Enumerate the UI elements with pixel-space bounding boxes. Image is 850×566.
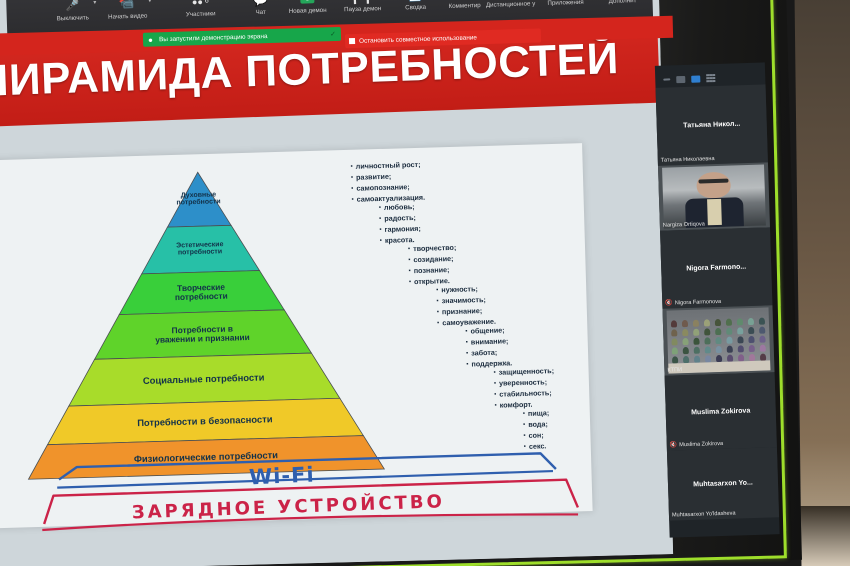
chevron-down-icon[interactable]: ▾ — [93, 0, 96, 6]
participant-tile[interactable]: КТПИ — [662, 305, 774, 375]
toolbar-label: Чат — [235, 8, 287, 17]
toolbar-label: Участники — [175, 10, 227, 19]
photo-of-screen: ПИРАМИДА ПОТРЕБНОСТЕЙ Духовныепотребност… — [0, 0, 850, 566]
sharing-icon: ● — [148, 35, 153, 44]
toolbar-participants-button[interactable]: ●●6Участники — [174, 0, 227, 19]
bullet-item: секс. — [524, 441, 551, 453]
participant-tile[interactable]: Muslima Zokirova🔇Muslima Zokirova — [665, 372, 777, 450]
minimize-icon[interactable] — [663, 78, 670, 80]
participant-video — [667, 307, 771, 373]
participant-name-label: 🔇Nigora Farmonova — [665, 298, 721, 307]
toolbar-pause-share-button[interactable]: ❙❙Пауза демон — [336, 0, 389, 14]
toolbar-label: Выключить — [47, 14, 99, 23]
bullet-item: созидание; — [408, 254, 457, 266]
participant-display-name: Muslima Zokirova — [666, 406, 776, 416]
toolbar-label: Начать видео — [102, 12, 154, 21]
toolbar-remote-button[interactable]: ╱Дистанционное у — [484, 0, 537, 9]
toolbar-label: Дистанционное у — [484, 0, 536, 9]
participants-icon: ●●6 — [174, 0, 226, 10]
participant-display-name: Татьяна Никол... — [657, 120, 767, 130]
microphone-icon: 🎤 — [46, 0, 98, 14]
chat-icon: 💬 — [234, 0, 286, 8]
bullet-group: пища;вода;сон;секс. — [523, 408, 551, 452]
participant-tile[interactable]: Nargiza Ortiqova — [658, 162, 770, 230]
panel-view-controls[interactable] — [663, 74, 715, 84]
bullet-item: пища; — [523, 408, 550, 420]
bullet-group: творчество;созидание;познание;открытие. — [408, 243, 458, 288]
toolbar-label: Приложения — [539, 0, 591, 7]
summary-icon: 📄 — [389, 0, 441, 3]
bullet-group: защищенность;уверенность;стабильность;ко… — [493, 366, 555, 411]
participant-name-label: 🔇Muslima Zokirova — [670, 440, 724, 449]
participant-name-label: КТПИ — [667, 367, 682, 373]
toolbar-annotate-button[interactable]: ✐Комментир — [438, 0, 491, 10]
participant-tile[interactable]: Татьяна Никол...Татьяна Николаевна — [656, 84, 768, 165]
stop-share-label: Остановить совместное использование — [359, 34, 477, 44]
participant-tile[interactable]: Muhtasarxon Yo...Muhtasarxon Yo'ldasheva — [667, 447, 779, 520]
mic-muted-icon: 🔇 — [670, 441, 678, 448]
bullet-group: личностный рост;развитие;самопознание;са… — [350, 160, 425, 206]
bullet-item: вода; — [523, 419, 550, 431]
shared-screen: ПИРАМИДА ПОТРЕБНОСТЕЙ Духовныепотребност… — [0, 0, 673, 566]
toolbar-label: Сводка — [390, 3, 442, 12]
split-view-icon[interactable] — [691, 75, 700, 82]
bullet-item: гармония; — [379, 224, 421, 236]
participant-tile[interactable]: Nigora Farmono...🔇Nigora Farmonova — [660, 227, 772, 308]
annotation-wifi: Wi-Fi — [249, 463, 316, 490]
speaker-view-icon[interactable] — [676, 75, 685, 82]
bullet-item: сон; — [523, 430, 550, 442]
toolbar-new-share-button[interactable]: ⬆Новая демон — [281, 0, 334, 15]
participant-video — [662, 164, 766, 228]
chevron-down-icon[interactable]: ▾ — [148, 0, 151, 4]
video-off-icon: 📹 — [101, 0, 153, 12]
bullet-item: стабильность; — [494, 388, 555, 401]
bullet-group: любовь;радость;гармония;красота. — [379, 202, 422, 247]
toolbar-label: Новая демон — [282, 7, 334, 16]
stop-square-icon — [349, 38, 355, 44]
toolbar-label: Дополнит — [596, 0, 648, 5]
bullet-group: общение;внимание;забота;поддержка. — [465, 325, 512, 370]
toolbar-summary-button[interactable]: 📄Сводка — [389, 0, 442, 12]
toolbar-label: Комментир — [439, 2, 491, 11]
grid-view-icon[interactable] — [706, 74, 715, 82]
monitor: ПИРАМИДА ПОТРЕБНОСТЕЙ Духовныепотребност… — [0, 0, 802, 566]
toolbar-start-video-button[interactable]: 📹Начать видео — [101, 0, 154, 21]
chevron-down-icon[interactable]: ▾ — [221, 0, 224, 2]
sharing-started-text: Вы запустили демонстрацию экрана — [159, 33, 268, 43]
toolbar-label: Пауза демон — [337, 5, 389, 14]
bullet-item: внимание; — [466, 336, 512, 348]
participant-name-label: Татьяна Николаевна — [661, 156, 715, 164]
participants-count: 6 — [205, 0, 209, 5]
bullet-group: нужность;значимость;признание;самоуважен… — [436, 284, 496, 329]
share-screen-icon: ⬆ — [281, 0, 333, 6]
toolbar-mute-button[interactable]: 🎤Выключить — [46, 0, 99, 23]
pause-icon: ❙❙ — [336, 0, 388, 5]
mic-muted-icon: 🔇 — [665, 299, 673, 306]
sharing-shield-icon: ✓ — [330, 30, 336, 38]
toolbar-more-button[interactable]: •••Дополнит — [596, 0, 649, 5]
participant-display-name: Nigora Farmono... — [661, 263, 771, 273]
participant-name-label: Muhtasarxon Yo'ldasheva — [672, 511, 736, 519]
toolbar-apps-button[interactable]: [··]Приложения — [539, 0, 592, 7]
participants-panel[interactable]: Татьяна Никол...Татьяна НиколаевнаNargiz… — [655, 62, 780, 537]
participant-name-label: Nargiza Ortiqova — [663, 221, 705, 228]
participant-display-name: Muhtasarxon Yo... — [668, 479, 778, 489]
toolbar-chat-button[interactable]: 💬Чат — [234, 0, 287, 17]
